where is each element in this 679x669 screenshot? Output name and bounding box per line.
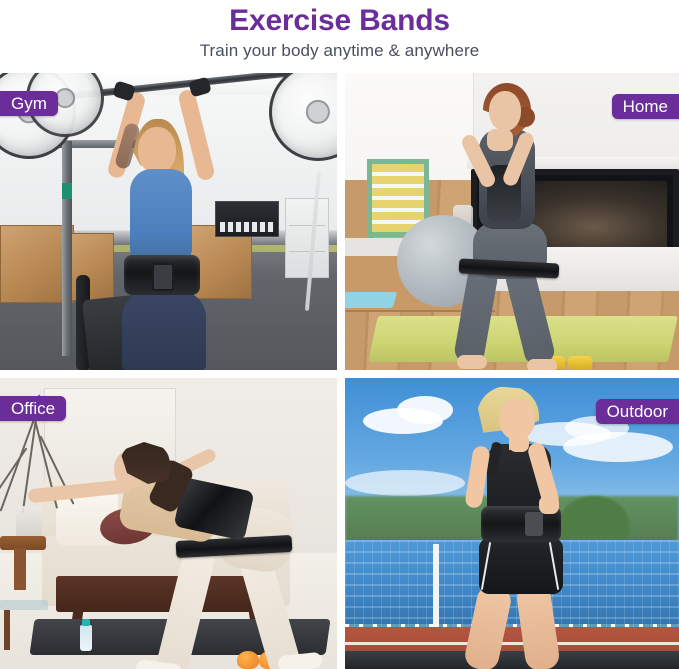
product-infographic: Exercise Bands Train your body anytime &… [0, 0, 679, 669]
home-athlete-foot [527, 359, 557, 370]
badge-home: Home [612, 94, 679, 119]
header: Exercise Bands Train your body anytime &… [0, 0, 679, 73]
outdoor-athlete-shorts [479, 538, 563, 594]
photo-cell-outdoor[interactable]: Outdoor [345, 378, 679, 669]
home-athlete [453, 79, 593, 369]
gym-rack-post [62, 141, 72, 356]
gym-athlete [96, 85, 236, 370]
home-athlete-head [489, 91, 521, 131]
office-athlete-arm-front [28, 479, 133, 504]
badge-outdoor: Outdoor [596, 399, 679, 424]
page-subtitle: Train your body anytime & anywhere [0, 38, 679, 62]
gym-athlete-top [130, 169, 192, 261]
gym-photo [0, 73, 337, 370]
outdoor-athlete-leg-left [463, 583, 514, 669]
photo-cell-office[interactable]: Office [0, 378, 337, 669]
gym-storage-shelf [285, 198, 329, 278]
outdoor-athlete-hand [539, 496, 559, 514]
home-athlete-leg-left [453, 265, 499, 365]
office-athlete-leg-front [155, 544, 217, 669]
office-photo [0, 378, 337, 669]
home-athlete-hands [487, 129, 513, 151]
outdoor-athlete-leg-right [515, 582, 561, 669]
photo-cell-gym[interactable]: Gym [0, 73, 337, 370]
home-athlete-foot [457, 355, 487, 369]
outdoor-athlete [443, 382, 613, 669]
photo-cell-home[interactable]: Home [345, 73, 679, 370]
home-foam-block [345, 292, 397, 308]
gym-support-belt [124, 255, 200, 295]
badge-gym: Gym [0, 91, 58, 116]
gym-athlete-head [138, 127, 176, 173]
page-title: Exercise Bands [0, 0, 679, 38]
gym-athlete-legs [122, 291, 206, 370]
office-athlete [10, 422, 310, 658]
badge-office: Office [0, 396, 66, 421]
outdoor-athlete-head [499, 398, 535, 440]
photo-grid: Gym [0, 73, 679, 669]
